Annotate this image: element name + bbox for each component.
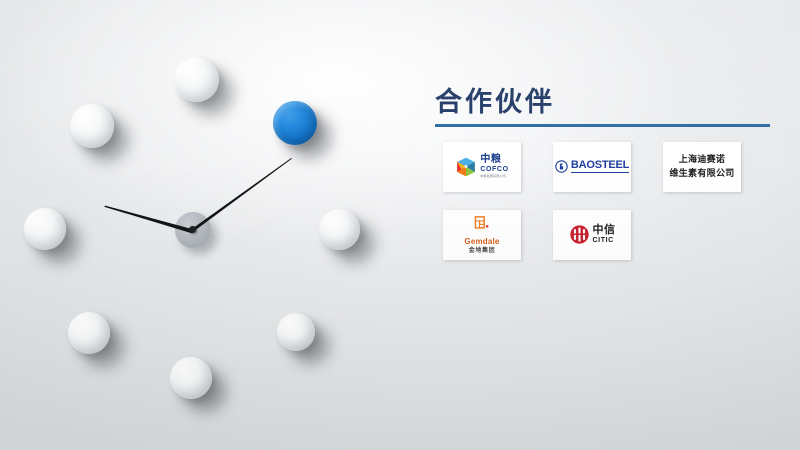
page-title: 合作伙伴 — [430, 88, 778, 118]
clock-marker-9 — [24, 208, 66, 250]
gemdale-cn-label: 金地集团 — [464, 248, 499, 254]
partner-logo-card-baosteel[interactable]: BAOSTEEL — [553, 142, 631, 192]
gemdale-wordmark: Gemdale — [464, 238, 499, 246]
clock-minute-hand — [192, 157, 293, 232]
clock-marker-4 — [277, 313, 315, 351]
baosteel-wordmark: BAOSTEEL — [571, 160, 629, 173]
partner-logo-card-gemdale[interactable]: Gemdale 金地集团 — [443, 210, 521, 260]
partner-logo-grid: 中粮 COFCO 中粮集团有限公司 BAOSTEEL — [443, 142, 778, 260]
wall-clock-illustration — [0, 0, 400, 450]
partners-panel: 合作伙伴 中粮 — [430, 88, 778, 260]
cofco-en-label: COFCO — [480, 166, 508, 173]
desano-line-1: 上海迪赛诺 — [669, 153, 734, 167]
cofco-tagline: 中粮集团有限公司 — [480, 175, 507, 178]
clock-marker-3 — [319, 209, 360, 250]
baosteel-emblem-icon — [555, 160, 568, 173]
citic-cn-label: 中信 — [593, 225, 616, 236]
partner-logo-card-cofco[interactable]: 中粮 COFCO 中粮集团有限公司 — [443, 142, 521, 192]
gemdale-emblem-icon — [473, 215, 490, 232]
partner-logo-card-desano[interactable]: 上海迪赛诺 维生素有限公司 — [663, 142, 741, 192]
citic-en-label: CITIC — [593, 237, 616, 244]
desano-line-2: 维生素有限公司 — [669, 167, 734, 181]
clock-marker-highlight — [273, 101, 317, 145]
clock-marker-6 — [170, 357, 212, 399]
cofco-cn-label: 中粮 — [480, 155, 508, 165]
partner-logo-card-citic[interactable]: 中信 CITIC — [553, 210, 631, 260]
slide-canvas: 合作伙伴 中粮 — [0, 0, 800, 450]
title-underline-rule — [435, 124, 770, 127]
partner-logo-slot-empty — [663, 210, 741, 260]
clock-center-pin — [189, 226, 196, 233]
clock-marker-12 — [174, 57, 219, 102]
cofco-cube-icon — [455, 156, 477, 178]
clock-marker-10 — [70, 104, 114, 148]
clock-marker-7 — [68, 312, 110, 354]
citic-emblem-icon — [569, 224, 590, 245]
